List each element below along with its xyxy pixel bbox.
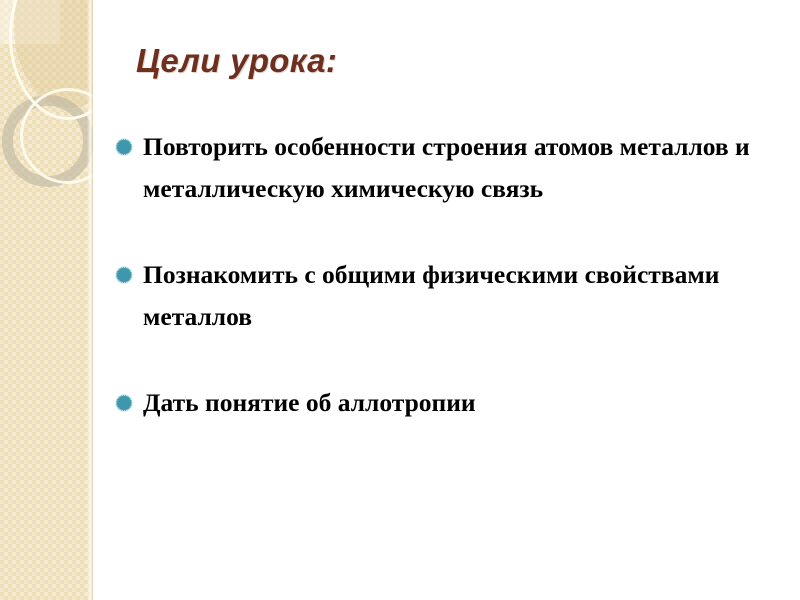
decorative-sidebar xyxy=(0,0,93,600)
bullet-circle-icon xyxy=(115,266,133,284)
list-item-text: Повторить особенности строения атомов ме… xyxy=(143,126,790,210)
presentation-slide: Цели урока: Повторить особенности строен… xyxy=(0,0,800,600)
list-item: Повторить особенности строения атомов ме… xyxy=(107,126,790,210)
bullet-circle-icon xyxy=(115,394,133,412)
bullet-circle-icon xyxy=(115,138,133,156)
list-item: Дать понятие об аллотропии xyxy=(107,382,790,424)
list-item: Познакомить с общими физическими свойств… xyxy=(107,254,790,338)
objectives-list: Повторить особенности строения атомов ме… xyxy=(107,126,790,424)
slide-title: Цели урока: xyxy=(136,42,337,80)
slide-content: Цели урока: Повторить особенности строен… xyxy=(93,0,800,600)
list-item-text: Познакомить с общими физическими свойств… xyxy=(143,254,790,338)
list-item-text: Дать понятие об аллотропии xyxy=(143,382,790,424)
